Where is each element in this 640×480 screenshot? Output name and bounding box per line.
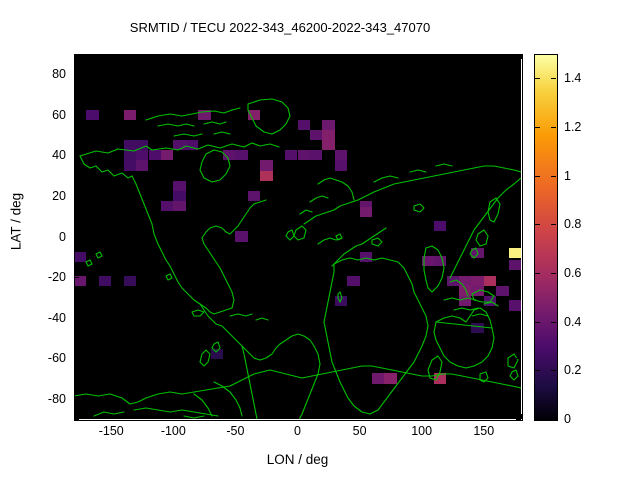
colorbar-tick-label: 0.4 <box>564 315 581 329</box>
y-tick-mark <box>516 54 521 55</box>
colorbar-tick-label: 0.8 <box>564 217 581 231</box>
colorbar-tick-mark <box>551 224 556 225</box>
figure-title: SRMTID / TECU 2022-343_46200-2022-343_47… <box>0 20 560 35</box>
coastline-layer <box>74 54 521 419</box>
colorbar-tick-mark <box>551 419 556 420</box>
colorbar-tick-label: 0 <box>564 412 571 426</box>
colorbar-tick-mark <box>551 273 556 274</box>
colorbar-tick-mark <box>551 176 556 177</box>
colorbar-tick-mark <box>535 78 540 79</box>
x-tick-mark <box>521 414 522 419</box>
y-tick-mark <box>74 54 79 55</box>
x-tick-label: 100 <box>411 424 432 438</box>
y-tick-mark <box>516 237 521 238</box>
y-tick-mark <box>74 419 79 420</box>
y-tick-mark <box>74 196 79 197</box>
y-tick-mark <box>74 237 79 238</box>
x-tick-mark <box>360 414 361 419</box>
y-tick-mark <box>516 399 521 400</box>
y-tick-mark <box>516 74 521 75</box>
colorbar-tick-mark <box>535 127 540 128</box>
y-tick-label: 80 <box>0 67 66 81</box>
colorbar[interactable] <box>534 54 558 421</box>
y-tick-label: -40 <box>0 311 66 325</box>
y-axis-label: LAT / deg <box>9 162 24 282</box>
x-tick-mark <box>484 414 485 419</box>
colorbar-tick-mark <box>535 322 540 323</box>
colorbar-tick-mark <box>535 273 540 274</box>
y-tick-label: -80 <box>0 392 66 406</box>
x-tick-mark <box>521 54 522 59</box>
map-plot-area[interactable] <box>74 54 521 419</box>
x-tick-mark <box>111 54 112 59</box>
colorbar-tick-mark <box>551 370 556 371</box>
colorbar-tick-label: 1.4 <box>564 71 581 85</box>
colorbar-gradient <box>535 55 557 420</box>
x-tick-mark <box>173 54 174 59</box>
x-tick-mark <box>422 414 423 419</box>
colorbar-tick-mark <box>535 370 540 371</box>
x-tick-label: 0 <box>294 424 301 438</box>
x-tick-mark <box>111 414 112 419</box>
colorbar-tick-label: 0.2 <box>564 363 581 377</box>
colorbar-tick-mark <box>551 322 556 323</box>
colorbar-tick-label: 0.6 <box>564 266 581 280</box>
x-tick-mark <box>173 414 174 419</box>
colorbar-tick-mark <box>535 419 540 420</box>
x-tick-mark <box>298 54 299 59</box>
x-tick-label: -150 <box>99 424 124 438</box>
x-tick-label: 150 <box>473 424 494 438</box>
y-tick-mark <box>516 277 521 278</box>
tec-map-figure: SRMTID / TECU 2022-343_46200-2022-343_47… <box>0 0 640 480</box>
x-tick-mark <box>298 414 299 419</box>
y-tick-mark <box>74 358 79 359</box>
y-tick-mark <box>74 399 79 400</box>
colorbar-tick-mark <box>551 127 556 128</box>
y-tick-label: 40 <box>0 148 66 162</box>
y-tick-mark <box>516 196 521 197</box>
x-tick-mark <box>235 414 236 419</box>
y-tick-mark <box>516 419 521 420</box>
x-tick-mark <box>422 54 423 59</box>
y-tick-mark <box>516 318 521 319</box>
colorbar-tick-label: 1 <box>564 169 571 183</box>
y-tick-mark <box>516 115 521 116</box>
y-tick-mark <box>74 74 79 75</box>
y-tick-mark <box>74 115 79 116</box>
x-tick-label: 50 <box>353 424 367 438</box>
x-tick-label: -100 <box>161 424 186 438</box>
colorbar-tick-mark <box>551 78 556 79</box>
x-tick-label: -50 <box>226 424 244 438</box>
y-tick-label: 60 <box>0 108 66 122</box>
y-tick-mark <box>74 155 79 156</box>
y-tick-mark <box>516 358 521 359</box>
x-tick-mark <box>360 54 361 59</box>
colorbar-tick-label: 1.2 <box>564 120 581 134</box>
y-tick-mark <box>74 318 79 319</box>
colorbar-tick-mark <box>535 224 540 225</box>
x-tick-mark <box>235 54 236 59</box>
x-axis-label: LON / deg <box>74 452 521 467</box>
y-tick-mark <box>516 155 521 156</box>
x-tick-mark <box>484 54 485 59</box>
y-tick-label: -60 <box>0 351 66 365</box>
y-tick-mark <box>74 277 79 278</box>
colorbar-tick-mark <box>535 176 540 177</box>
